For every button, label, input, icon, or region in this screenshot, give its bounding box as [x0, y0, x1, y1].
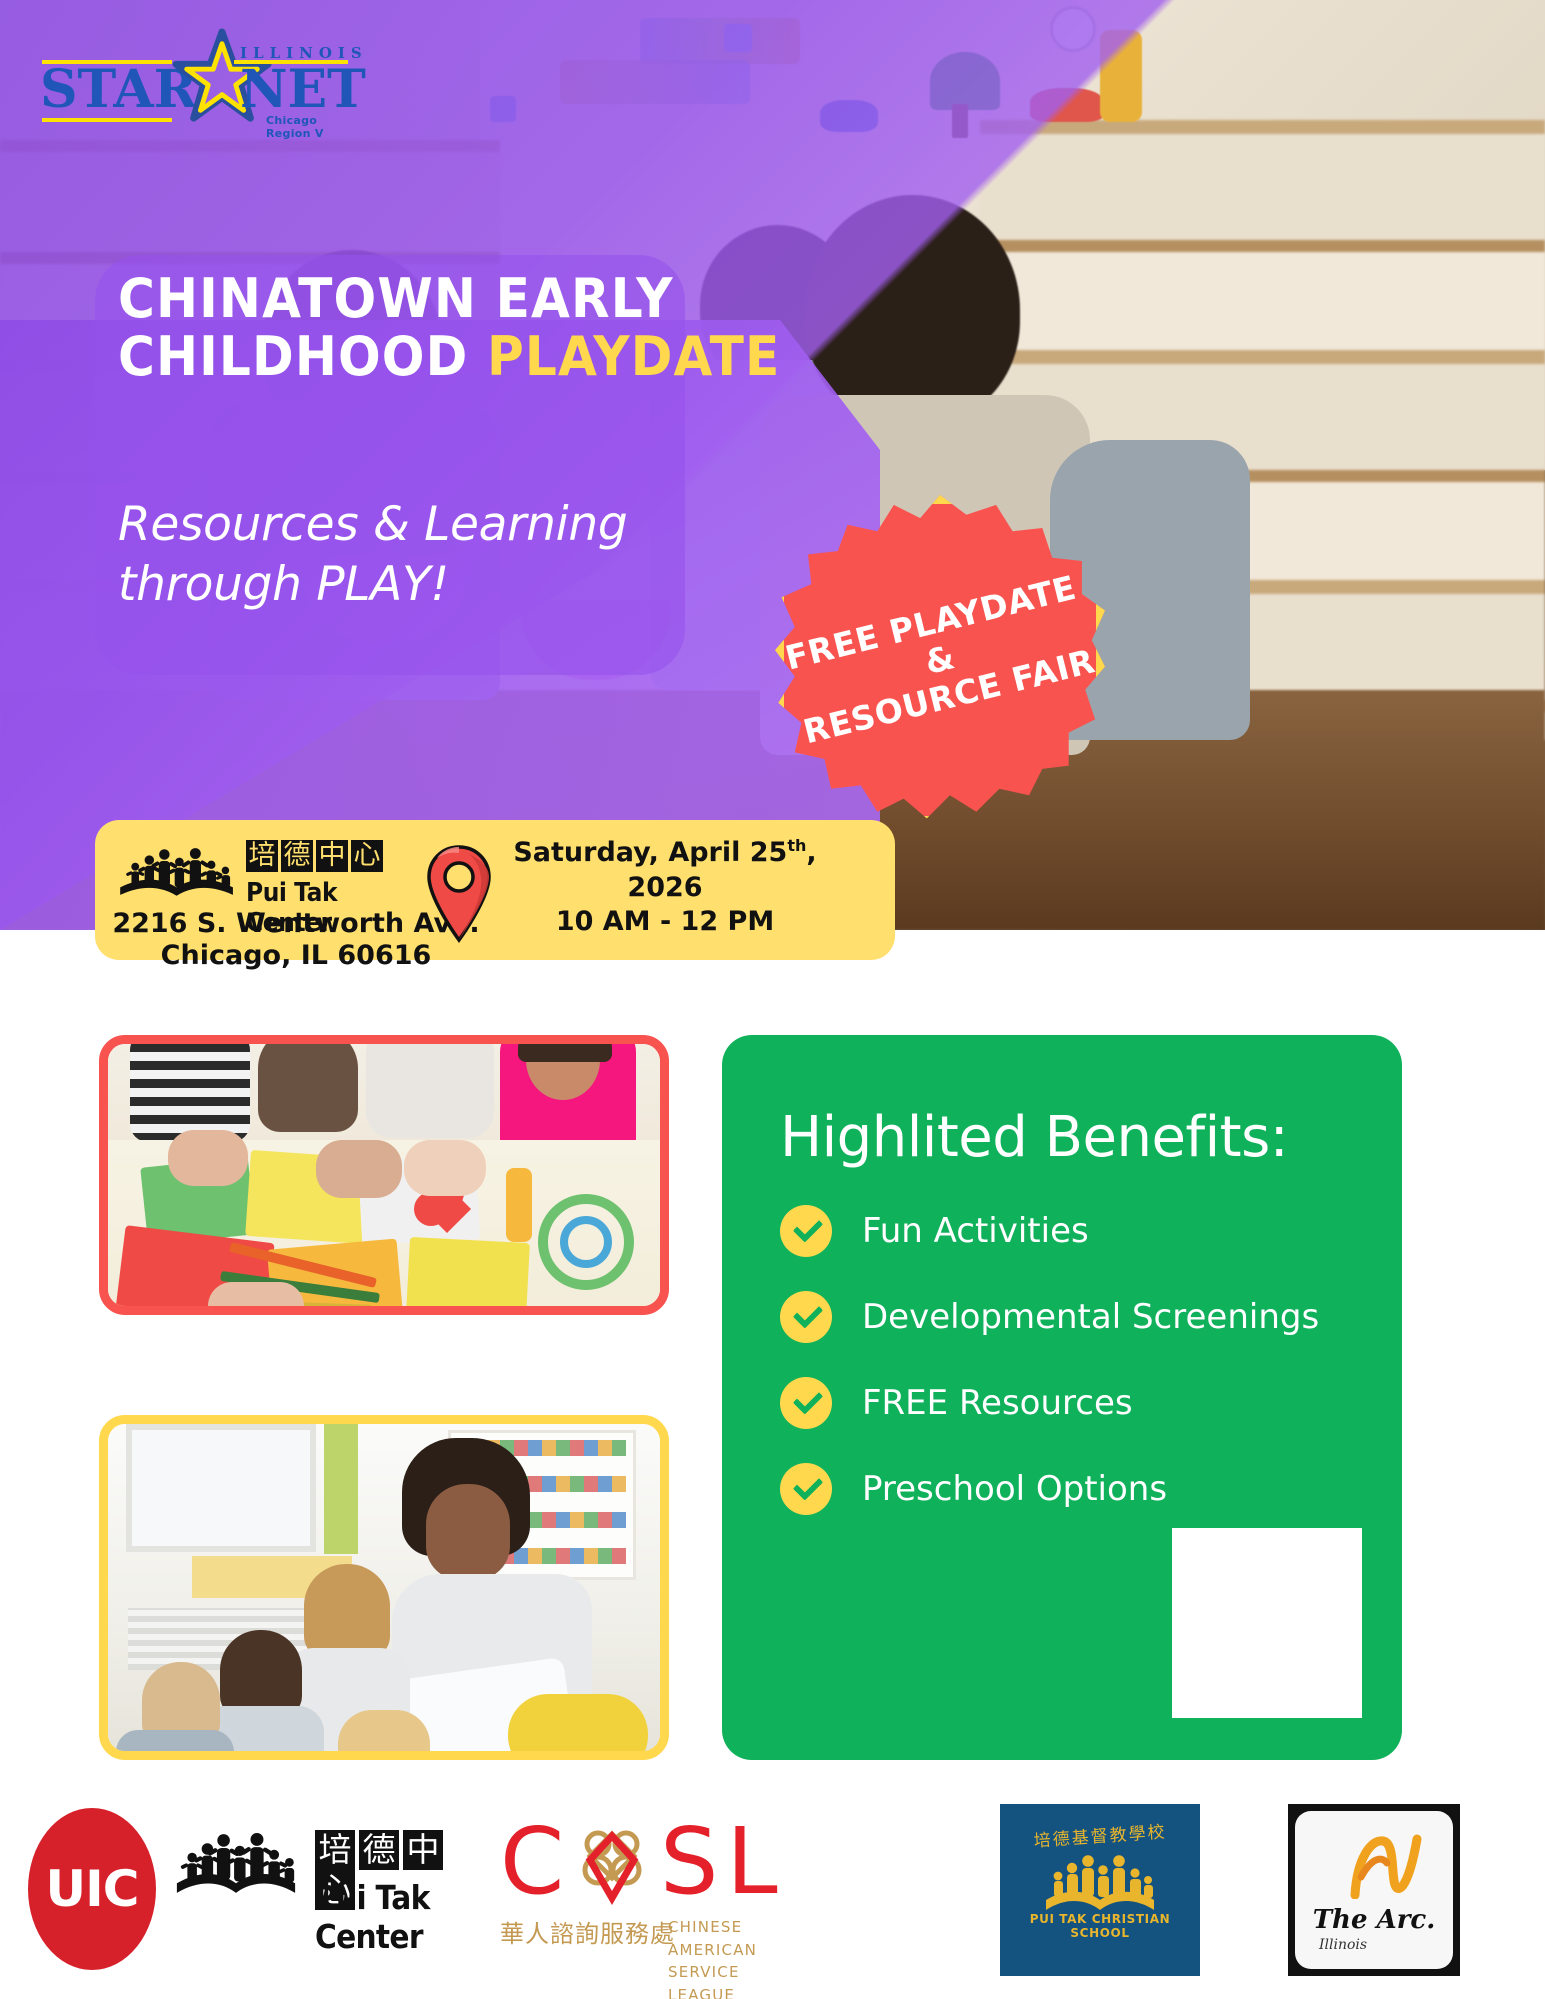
flyer-title: CHINATOWN EARLY CHILDHOOD PLAYDATE [118, 270, 718, 386]
teacher-reading-to-children-photo [99, 1415, 669, 1760]
the-arc-name: The Arc. [1295, 1905, 1453, 1935]
benefit-item: Developmental Screenings [780, 1291, 1380, 1343]
benefit-item: Preschool Options [780, 1463, 1380, 1515]
pui-tak-christian-school-logo: 培德基督教學校 PUI TAK CHRISTIAN SCHOOL [1000, 1804, 1200, 1976]
event-year: 2026 [500, 871, 830, 906]
the-arc-illinois-logo: The Arc. Illinois [1288, 1804, 1460, 1976]
title-line-1: CHINATOWN EARLY [118, 270, 676, 328]
chinese-char-1: 培 [315, 1830, 355, 1870]
casl-english-line-1: CHINESE AMERICAN [668, 1916, 780, 1961]
check-circle-icon [780, 1377, 832, 1429]
open-book-with-people-icon [170, 1828, 302, 1910]
event-date-ordinal: th [787, 836, 806, 855]
chinese-char-3: 中 [316, 840, 348, 872]
flyer-page: STAR ILLINOIS NET Chicago Region V CHINA… [0, 0, 1545, 1999]
check-circle-icon [780, 1463, 832, 1515]
pui-tak-chinese-name: 培德中心 [246, 840, 386, 872]
casl-letter-c: C [500, 1816, 564, 1908]
subtitle-line-2: through PLAY! [118, 555, 738, 615]
event-date-prefix: Saturday, April 25 [513, 837, 787, 868]
casl-english-line-2: SERVICE LEAGUE [668, 1961, 780, 1999]
pui-tak-footer-name: Pui Tak Center [315, 1878, 464, 1956]
benefit-label: Developmental Screenings [862, 1297, 1319, 1337]
kids-craft-table-photo [99, 1035, 669, 1315]
flyer-subtitle: Resources & Learning through PLAY! [118, 495, 738, 615]
pui-tak-center-footer-logo: 培德中心 Pui Tak Center [170, 1820, 480, 1955]
uic-logo: UIC [28, 1808, 156, 1970]
starburst-text: FREE PLAYDATE & RESOURCE FAIR [740, 460, 1140, 860]
title-line-2-accent: PLAYDATE [487, 325, 780, 388]
starnet-logo-region-text: Chicago Region V [266, 114, 348, 140]
map-pin-icon [425, 844, 493, 944]
qr-code[interactable] [1172, 1528, 1362, 1718]
subtitle-line-1: Resources & Learning [118, 495, 738, 555]
chinese-char-1: 培 [246, 840, 278, 872]
arc-swoosh-icon [1347, 1833, 1425, 1899]
title-line-2-plain: CHILDHOOD [118, 325, 487, 388]
chinese-char-2: 德 [359, 1830, 399, 1870]
benefit-label: FREE Resources [862, 1383, 1133, 1423]
the-arc-state: Illinois [1319, 1937, 1367, 1953]
open-book-with-people-icon [115, 846, 240, 908]
benefits-heading: Highlited Benefits: [780, 1105, 1288, 1170]
title-line-2: CHILDHOOD PLAYDATE [118, 328, 676, 386]
ptcs-chinese-name: 培德基督教學校 [999, 1815, 1200, 1854]
event-date-time: Saturday, April 25th, 2026 10 AM - 12 PM [500, 836, 830, 940]
partner-logos-footer: UIC 培德中心 Pui Tak Center C [0, 1790, 1545, 1999]
benefit-item: Fun Activities [780, 1205, 1380, 1257]
starnet-logo: STAR ILLINOIS NET Chicago Region V [18, 22, 348, 127]
free-badge: FREE PLAYDATE & RESOURCE FAIR [775, 495, 1105, 825]
event-date-line: Saturday, April 25th, [500, 836, 830, 871]
event-info-bar: 培德中心 Pui Tak Center 2216 S. Wentworth Av… [95, 820, 895, 960]
check-circle-icon [780, 1205, 832, 1257]
ptcs-english-name: PUI TAK CHRISTIAN SCHOOL [1000, 1912, 1200, 1940]
chinese-char-3: 中 [403, 1830, 443, 1870]
benefits-panel: Highlited Benefits: Fun Activities Devel… [722, 1035, 1402, 1760]
benefit-label: Preschool Options [862, 1469, 1167, 1509]
starnet-logo-net-text: NET [240, 64, 366, 116]
benefits-list: Fun Activities Developmental Screenings … [780, 1205, 1380, 1549]
casl-chinese-name: 華人諮詢服務處 [500, 1914, 675, 1949]
pui-tak-center-logo: 培德中心 Pui Tak Center [115, 834, 405, 910]
chinese-knot-icon [572, 1826, 652, 1906]
check-circle-icon [780, 1291, 832, 1343]
chinese-char-2: 德 [281, 840, 313, 872]
casl-letters-sl: SL [660, 1816, 786, 1908]
benefit-label: Fun Activities [862, 1211, 1089, 1251]
hero-photo-area [0, 0, 1545, 930]
chinese-char-4: 心 [351, 840, 383, 872]
address-line-2: Chicago, IL 60616 [101, 940, 491, 972]
benefit-item: FREE Resources [780, 1377, 1380, 1429]
casl-logo: C SL 華人諮詢服務處 CHINESE AMERICAN SERVICE LE… [500, 1816, 780, 1966]
uic-logo-text: UIC [46, 1860, 139, 1918]
casl-english-name: CHINESE AMERICAN SERVICE LEAGUE [668, 1916, 780, 1999]
event-time: 10 AM - 12 PM [500, 905, 830, 940]
